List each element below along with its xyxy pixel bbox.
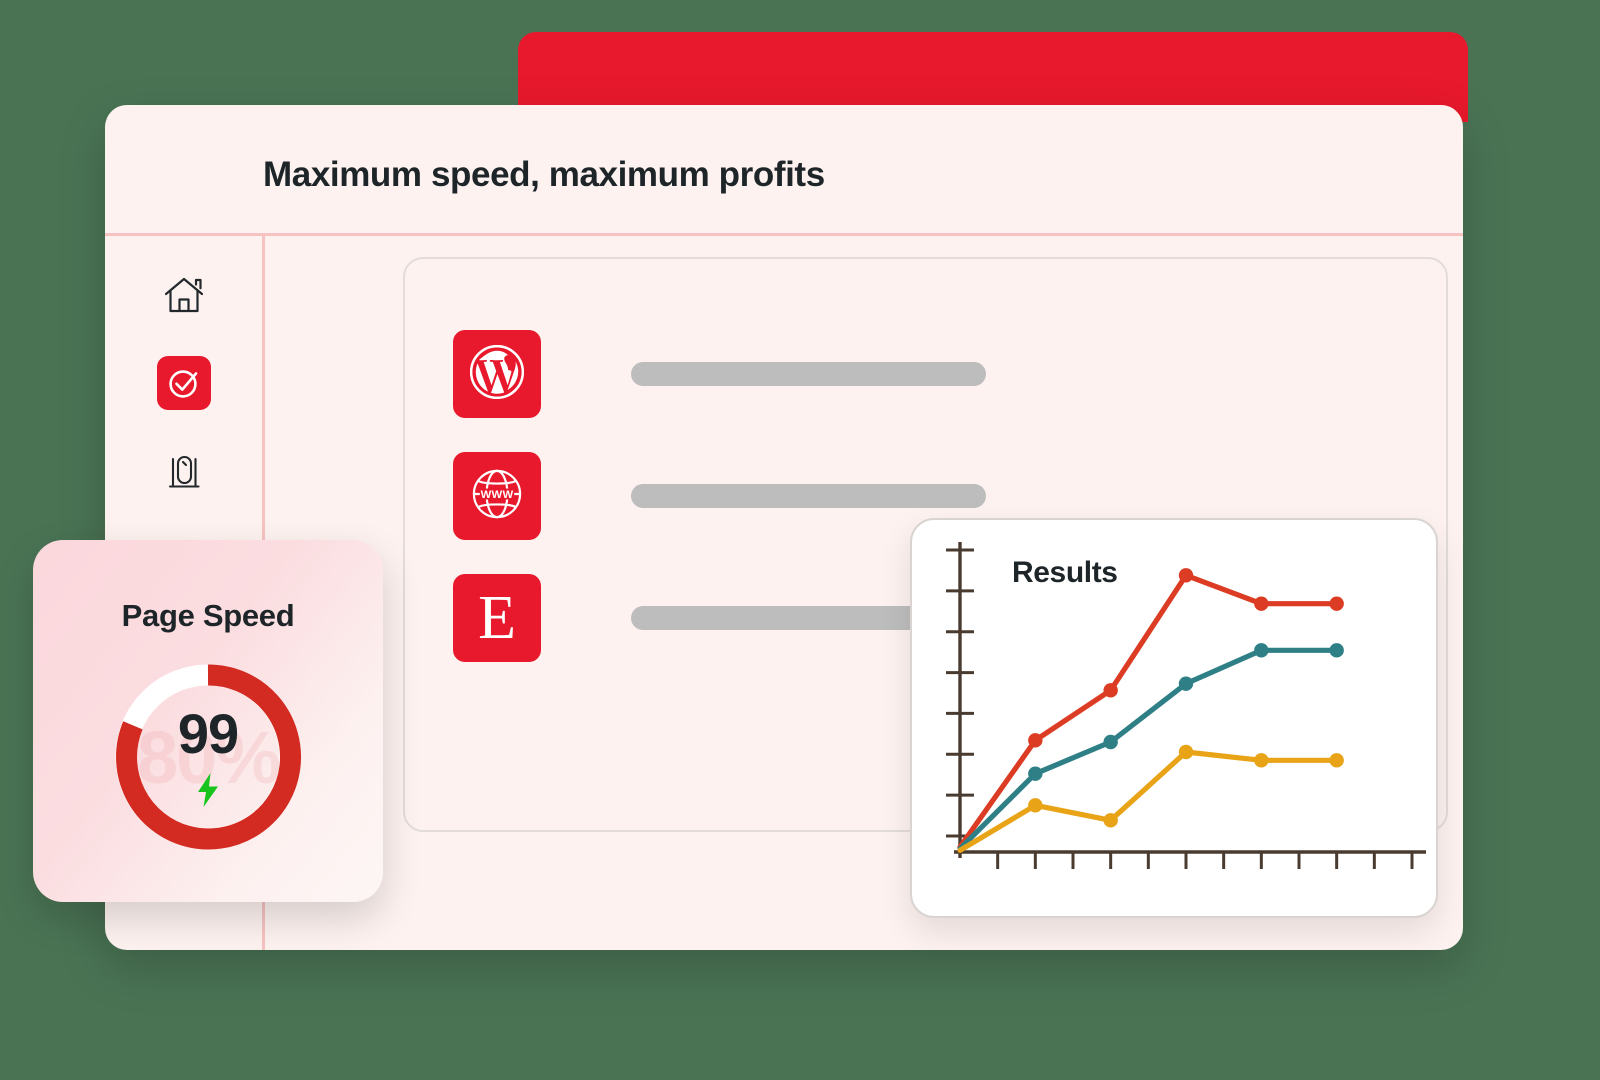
www-globe-icon: WWW [468,465,526,528]
app-header: Maximum speed, maximum profits [105,105,1463,233]
list-item[interactable] [453,314,1446,434]
wordpress-tile[interactable] [453,330,541,418]
sidebar-item-checks[interactable] [157,356,211,410]
svg-text:WWW: WWW [481,488,514,500]
chart-axes [946,542,1426,869]
lightning-bolt-icon [108,773,308,813]
domain-tile[interactable]: WWW [453,452,541,540]
sidebar-item-home[interactable] [157,268,211,322]
page-speed-value: 99 [108,701,308,766]
page-speed-title: Page Speed [33,598,383,634]
sidebar-item-hosting[interactable] [157,444,211,498]
screenshot-root: Maximum speed, maximum profits [0,0,1600,1080]
etsy-tile[interactable]: E [453,574,541,662]
etsy-icon: E [478,587,516,649]
chart-series [960,568,1344,850]
results-chart-card: Results [910,518,1438,918]
home-icon [163,275,205,315]
header-divider [105,233,1463,236]
placeholder-bar [631,484,986,508]
page-speed-card: Page Speed 80% 99 [33,540,383,902]
results-line-chart [912,520,1438,918]
placeholder-bar [631,362,986,386]
check-circle-icon [166,365,202,401]
wordpress-icon [468,343,526,406]
page-speed-gauge: 80% 99 [108,657,308,857]
hosting-stand-icon [167,451,201,491]
page-title: Maximum speed, maximum profits [263,155,825,195]
